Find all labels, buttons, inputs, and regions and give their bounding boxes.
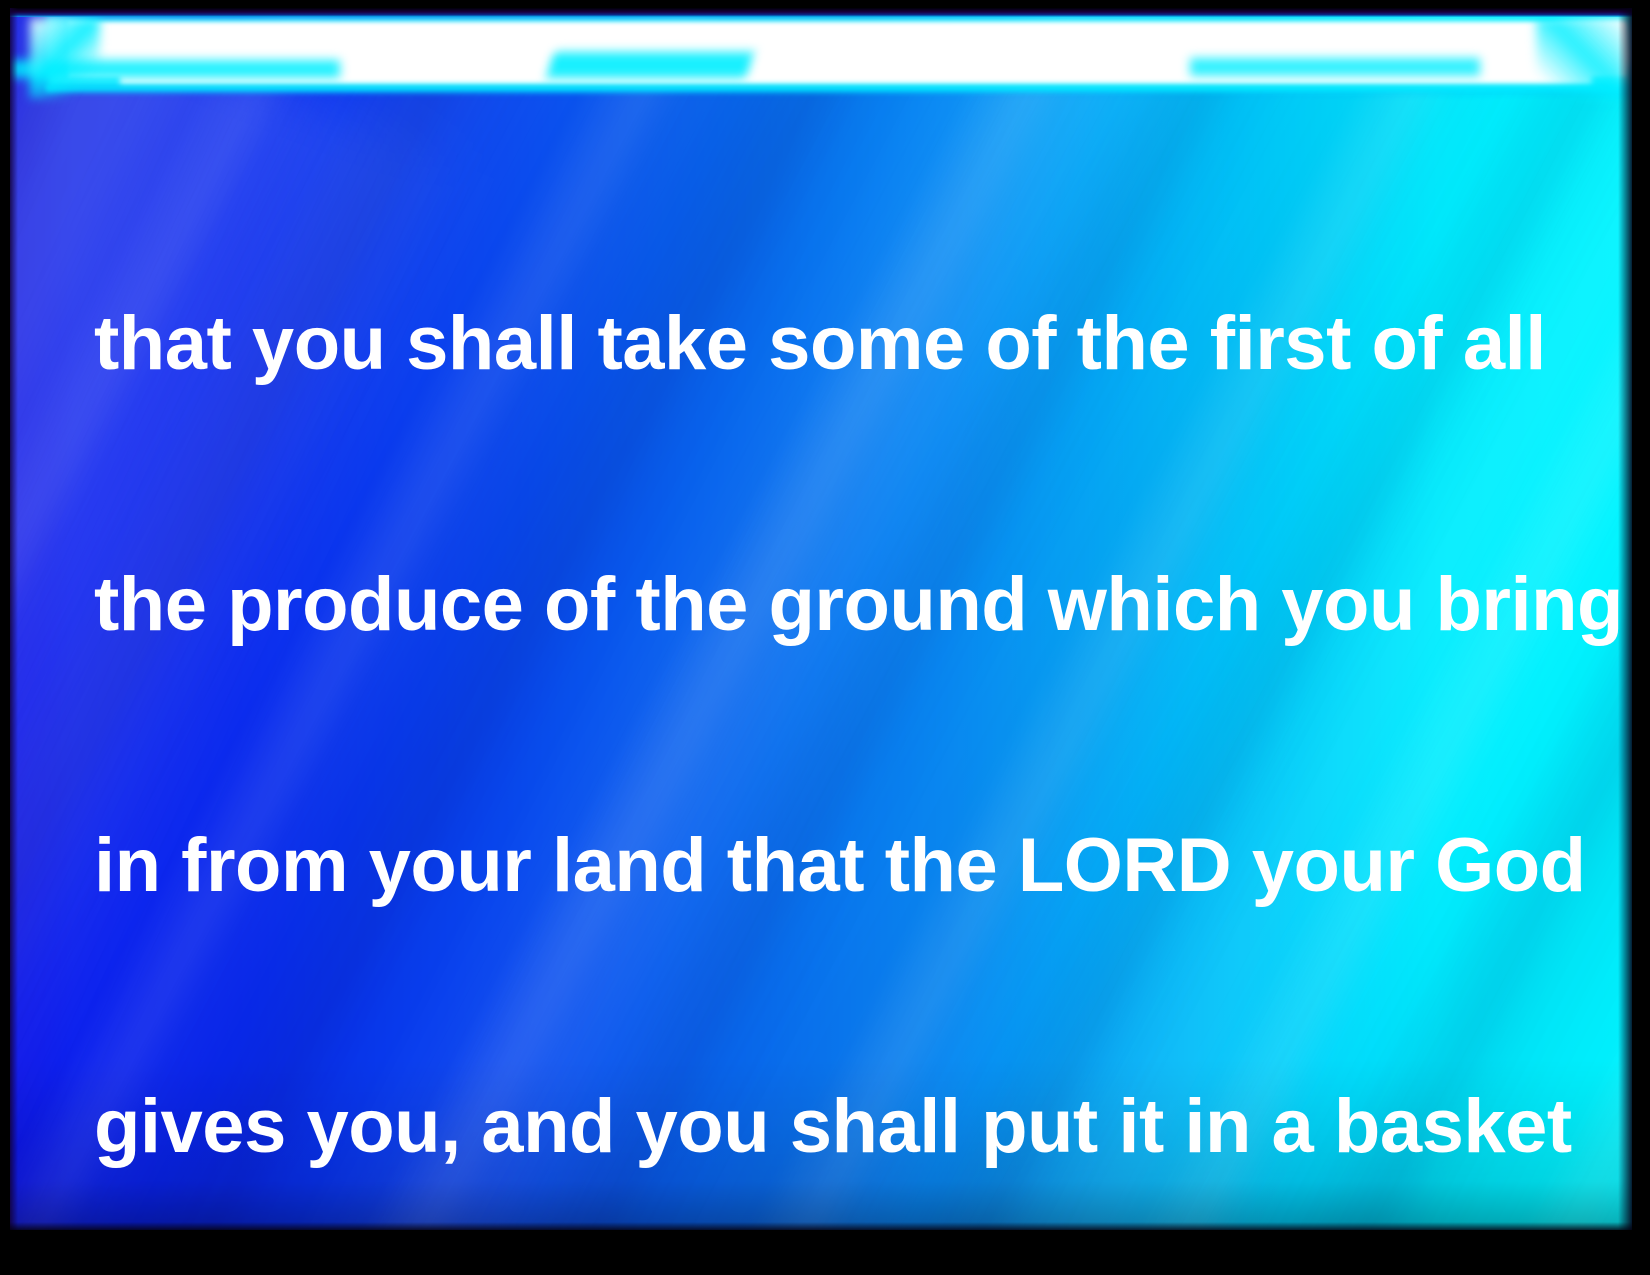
glare-white-core	[68, 22, 1626, 76]
glare-cyan-halo	[46, 16, 1632, 92]
glare-cyan-wisp-center	[546, 52, 753, 78]
verse-line-4: gives you, and you shall put it in a bas…	[94, 1083, 1574, 1170]
glare-bottom-edge	[46, 86, 1632, 94]
border-left	[0, 0, 10, 1275]
verse-line-3: in from your land that the LORD your God	[94, 822, 1574, 909]
glare-white-core-lower	[120, 54, 1592, 84]
glare-top-hairline	[10, 8, 1632, 17]
gradient-background-panel: that you shall take some of the first of…	[10, 8, 1632, 1230]
glare-cyan-wisp-left	[10, 60, 340, 78]
glare-left-bevel	[30, 18, 100, 98]
verse-slide: that you shall take some of the first of…	[0, 0, 1650, 1275]
verse-text-block: that you shall take some of the first of…	[94, 126, 1574, 1230]
top-glare-band	[10, 8, 1632, 104]
border-bottom	[0, 1230, 1650, 1275]
border-right	[1632, 0, 1650, 1275]
verse-line-1: that you shall take some of the first of…	[94, 300, 1574, 387]
glare-cyan-wisp-right	[1190, 58, 1480, 76]
border-top	[0, 0, 1650, 8]
glare-right-bevel	[1536, 18, 1626, 100]
verse-line-2: the produce of the ground which you brin…	[94, 561, 1574, 648]
